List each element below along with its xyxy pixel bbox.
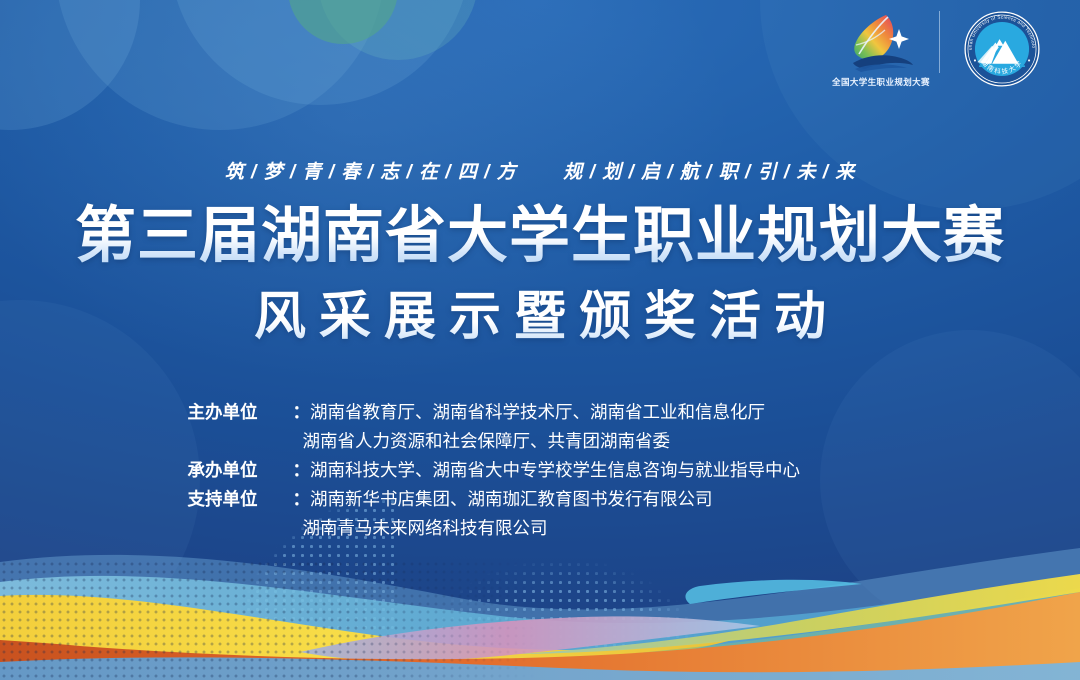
organizer-value-continued: 湖南省人力资源和社会保障厅、共青团湖南省委 — [188, 427, 893, 456]
organizer-value: 湖南科技大学、湖南省大中专学校学生信息咨询与就业指导中心 — [310, 456, 893, 485]
tagline-char: 方 — [497, 157, 517, 184]
tagline-sep: / — [590, 162, 596, 184]
organizer-value: 湖南省教育厅、湖南省科学技术厅、湖南省工业和信息化厅 — [310, 398, 893, 427]
tagline-char: 梦 — [264, 157, 284, 184]
tagline-char: 未 — [796, 157, 816, 184]
tagline-sep: / — [823, 162, 829, 184]
tagline-char: 来 — [835, 157, 855, 184]
tagline-char: 春 — [341, 157, 361, 184]
tagline-char: 启 — [641, 157, 661, 184]
tagline-sep: / — [445, 162, 451, 184]
tagline-char: 青 — [302, 157, 322, 184]
organizer-label: 主办单位 — [188, 398, 293, 427]
tagline-char: 在 — [419, 157, 439, 184]
organizer-row-organizer: 承办单位 ： 湖南科技大学、湖南省大中专学校学生信息咨询与就业指导中心 — [188, 456, 893, 485]
organizer-block: 主办单位 ： 湖南省教育厅、湖南省科学技术厅、湖南省工业和信息化厅 湖南省人力资… — [0, 398, 1080, 543]
event-poster: 全国大学生职业规划大赛 Hunan — [0, 0, 1080, 680]
tagline-sep: / — [329, 162, 335, 184]
tagline-sep: / — [290, 162, 296, 184]
tagline-sep: / — [745, 162, 751, 184]
tagline-char: 航 — [680, 157, 700, 184]
organizer-label: 承办单位 — [188, 456, 293, 485]
organizer-label: 支持单位 — [188, 485, 293, 514]
tagline: 筑 / 梦 / 青 / 春 / 志 / 在 / 四 / 方 规 / 划 — [0, 157, 1080, 184]
tagline-char: 引 — [758, 157, 778, 184]
tagline-sep: / — [406, 162, 412, 184]
tagline-char: 职 — [719, 157, 739, 184]
tagline-sep: / — [251, 162, 257, 184]
tagline-char: 筑 — [225, 157, 245, 184]
organizer-colon: ： — [293, 398, 311, 427]
organizer-value: 湖南新华书店集团、湖南珈汇教育图书发行有限公司 — [310, 485, 893, 514]
tagline-sep: / — [368, 162, 374, 184]
tagline-sep: / — [667, 162, 673, 184]
poster-content: 筑 / 梦 / 青 / 春 / 志 / 在 / 四 / 方 规 / 划 — [0, 0, 1080, 680]
tagline-char: 四 — [458, 157, 478, 184]
tagline-char: 志 — [380, 157, 400, 184]
organizer-value-continued: 湖南青马未来网络科技有限公司 — [188, 514, 893, 543]
organizer-colon: ： — [293, 456, 311, 485]
tagline-left: 筑 / 梦 / 青 / 春 / 志 / 在 / 四 / 方 — [225, 157, 517, 184]
tagline-char: 规 — [563, 157, 583, 184]
main-title-line-1: 第三届湖南省大学生职业规划大赛 — [0, 203, 1080, 267]
tagline-sep: / — [784, 162, 790, 184]
organizer-colon: ： — [293, 485, 311, 514]
tagline-sep: / — [706, 162, 712, 184]
main-title-line-2: 风采展示暨颁奖活动 — [0, 289, 1080, 346]
tagline-sep: / — [628, 162, 634, 184]
organizer-row-supporter: 支持单位 ： 湖南新华书店集团、湖南珈汇教育图书发行有限公司 — [188, 485, 893, 514]
organizer-row-host: 主办单位 ： 湖南省教育厅、湖南省科学技术厅、湖南省工业和信息化厅 — [188, 398, 893, 427]
tagline-char: 划 — [602, 157, 622, 184]
tagline-right: 规 / 划 / 启 / 航 / 职 / 引 / 未 / 来 — [563, 157, 855, 184]
tagline-sep: / — [484, 162, 490, 184]
